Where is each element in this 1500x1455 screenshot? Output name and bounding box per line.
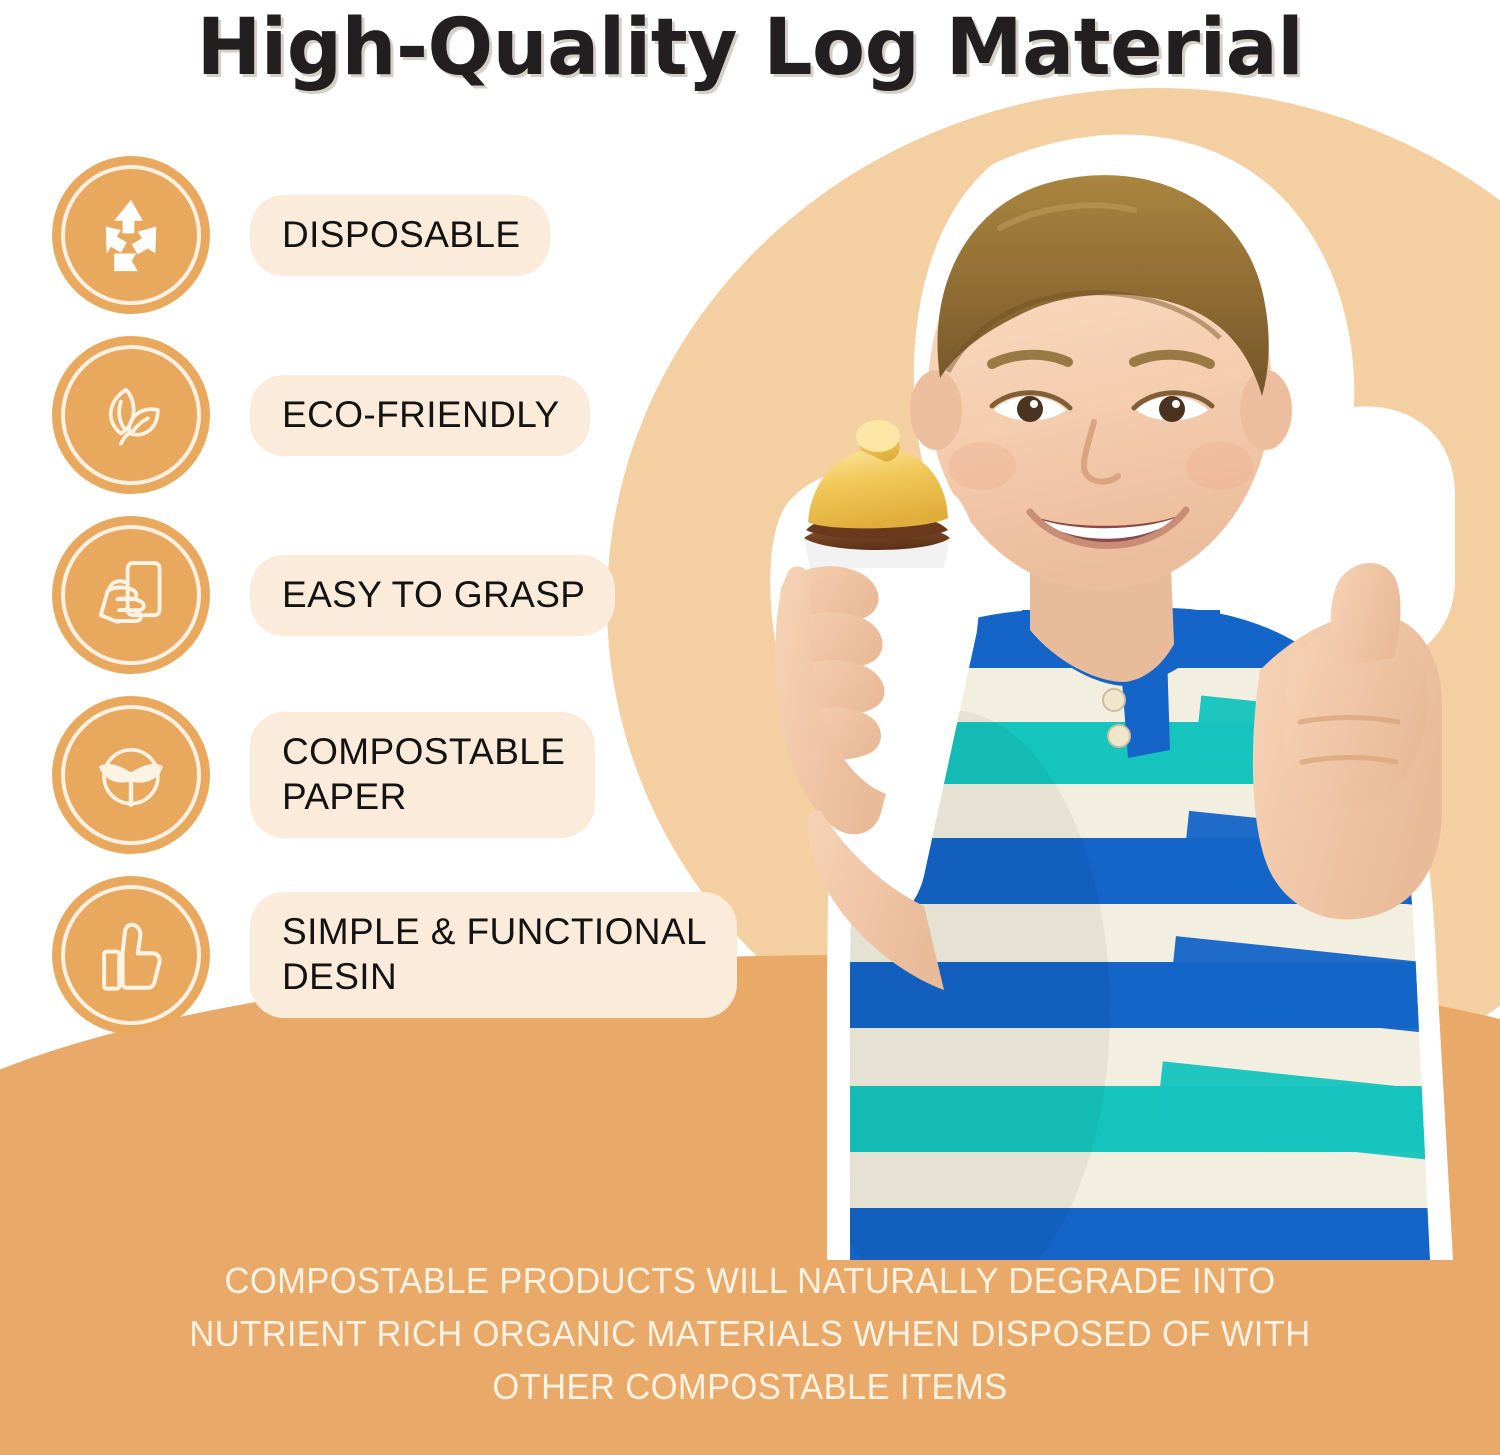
footer-line-2: NUTRIENT RICH ORGANIC MATERIALS WHEN DIS… [116,1307,1383,1360]
feature-pill-easy-to-grasp: EASY TO GRASP [250,555,615,636]
feature-label: ECO-FRIENDLY [282,392,560,437]
feature-pill-disposable: DISPOSABLE [250,195,550,276]
feature-label: COMPOSTABLE PAPER [282,729,565,819]
hand-holding-icon [52,516,210,674]
title-bar: High-Quality Log Material [0,0,1500,96]
feature-pill-compostable-paper: COMPOSTABLE PAPER [250,712,595,838]
feature-pill-eco-friendly: ECO-FRIENDLY [250,375,590,456]
feature-list: DISPOSABLE ECO-FRIENDLY [52,155,752,1035]
footer-caption: COMPOSTABLE PRODUCTS WILL NATURALLY DEGR… [0,1254,1500,1413]
thumbs-up-icon [52,876,210,1034]
recycle-icon [52,156,210,314]
product-infographic: High-Quality Log Material [0,0,1500,1455]
feature-item-eco-friendly: ECO-FRIENDLY [52,335,752,495]
leaves-icon [52,336,210,494]
boy-photo [700,110,1500,1260]
sprout-icon [52,696,210,854]
feature-label: SIMPLE & FUNCTIONAL DESIN [282,909,707,999]
feature-item-simple-functional: SIMPLE & FUNCTIONAL DESIN [52,875,752,1035]
feature-item-easy-to-grasp: EASY TO GRASP [52,515,752,675]
feature-label: DISPOSABLE [282,212,520,257]
feature-item-compostable-paper: COMPOSTABLE PAPER [52,695,752,855]
footer-line-1: COMPOSTABLE PRODUCTS WILL NATURALLY DEGR… [116,1254,1383,1307]
page-title: High-Quality Log Material [197,3,1304,93]
feature-item-disposable: DISPOSABLE [52,155,752,315]
footer-line-3: OTHER COMPOSTABLE ITEMS [116,1360,1383,1413]
feature-pill-simple-functional: SIMPLE & FUNCTIONAL DESIN [250,892,737,1018]
feature-label: EASY TO GRASP [282,572,585,617]
